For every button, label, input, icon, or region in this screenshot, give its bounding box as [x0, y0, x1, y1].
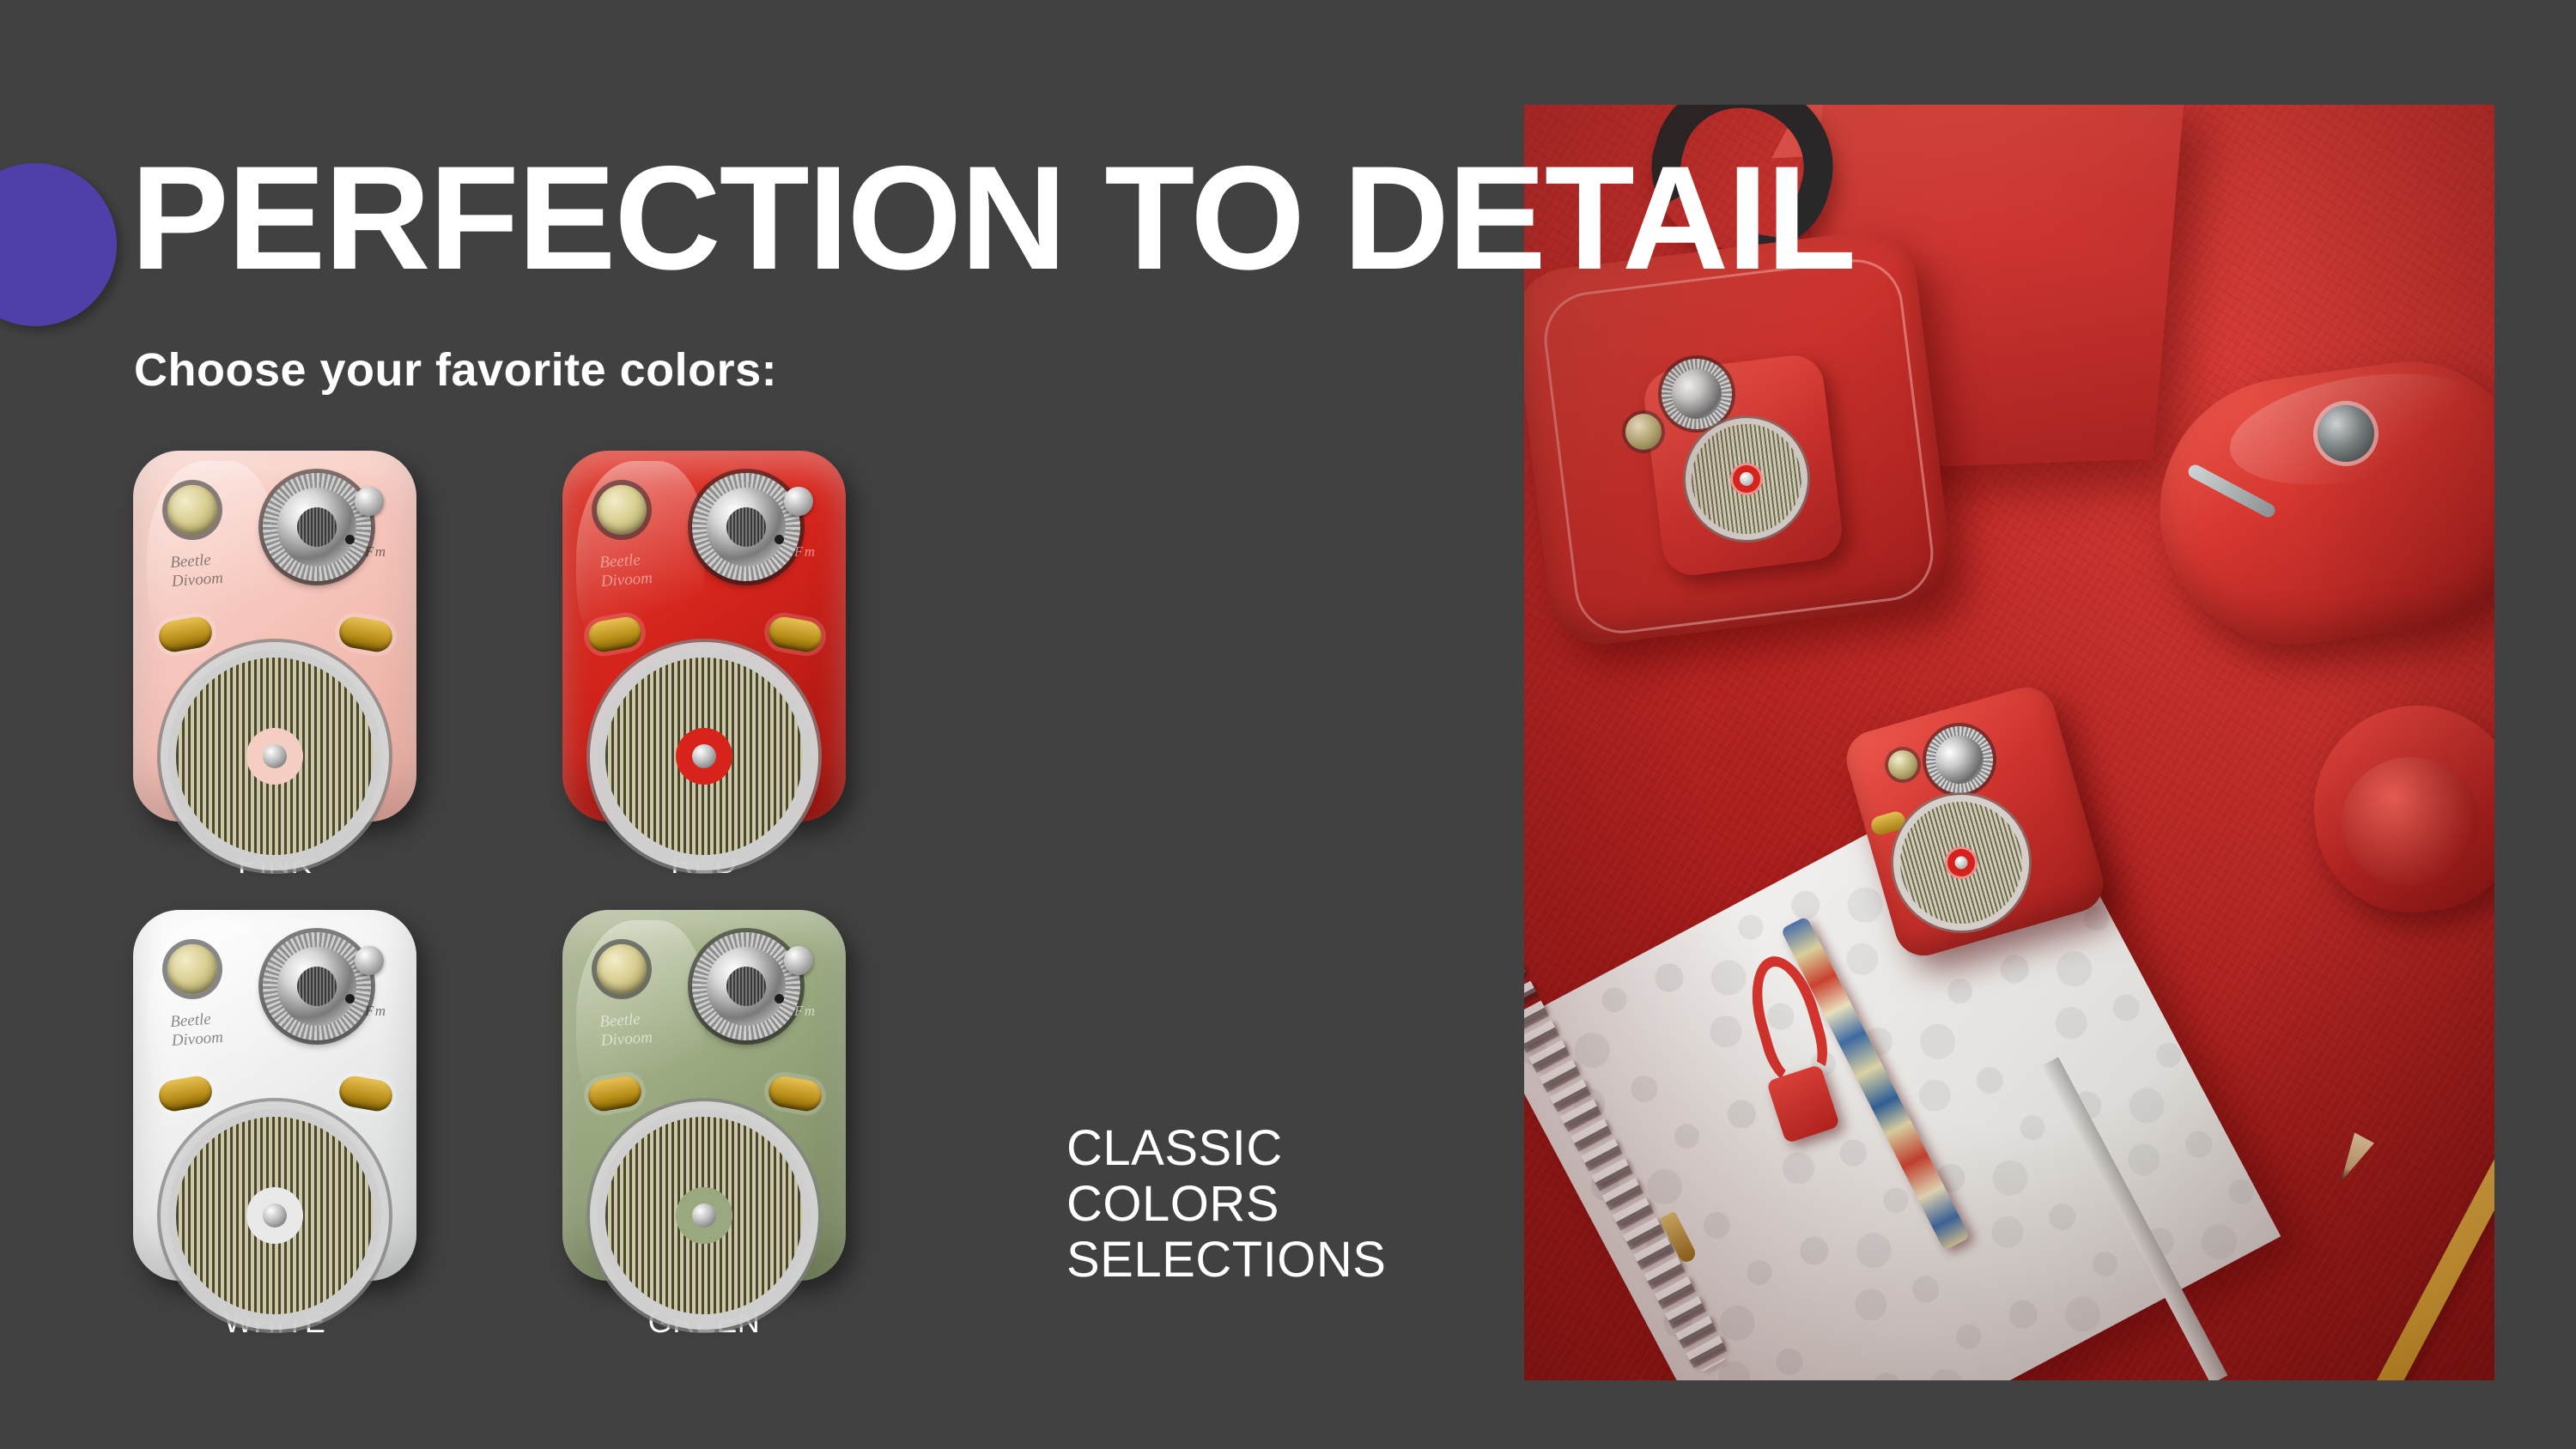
speaker-image-green: F m BeetleDivoom: [558, 910, 850, 1292]
swatch-row-bottom: F m BeetleDivoom WHITE: [129, 910, 987, 1340]
mic-pinhole-icon: [775, 994, 784, 1003]
fm-label-mark: F m: [365, 543, 386, 561]
tuning-dial-icon: [263, 473, 371, 581]
amber-button-left-icon: [156, 615, 214, 654]
swatch-green[interactable]: F m BeetleDivoom GREEN: [558, 910, 987, 1340]
speaker-grille-icon: [598, 650, 811, 863]
decorative-purple-circle: [0, 163, 117, 326]
brand-script-mark: BeetleDivoom: [170, 1009, 224, 1051]
indicator-lamp-icon: [597, 485, 647, 535]
brand-script-mark: BeetleDivoom: [599, 1009, 653, 1051]
photo-case-speaker-hub-icon: [1730, 463, 1763, 495]
fm-label-mark: F m: [365, 1003, 386, 1020]
amber-button-left-icon: [586, 615, 643, 654]
tuning-dial-icon: [692, 932, 800, 1040]
speaker-grille-icon: [168, 650, 381, 863]
fm-label-mark: F m: [794, 1003, 815, 1020]
dial-hub-icon: [297, 967, 337, 1006]
tagline-line-1: CLASSIC: [1066, 1121, 1386, 1177]
tuning-dial-icon: [263, 932, 371, 1040]
slide-canvas: PERFECTION TO DETAIL Choose your favorit…: [0, 0, 2576, 1449]
power-switch-icon: [784, 946, 813, 975]
swatch-white[interactable]: F m BeetleDivoom WHITE: [129, 910, 558, 1340]
retro-speaker-icon: F m BeetleDivoom: [133, 451, 416, 822]
tuning-dial-icon: [692, 473, 800, 581]
speaker-image-white: F m BeetleDivoom: [129, 910, 421, 1292]
photo-mini-speaker-hub-icon: [1945, 846, 1978, 879]
amber-button-right-icon: [766, 1074, 823, 1113]
tagline-line-3: SELECTIONS: [1066, 1233, 1386, 1288]
mic-pinhole-icon: [775, 535, 784, 544]
indicator-lamp-icon: [167, 485, 217, 535]
dial-hub-icon: [297, 507, 337, 547]
color-swatch-grid: F m BeetleDivoom PINK: [129, 451, 987, 1340]
amber-button-right-icon: [337, 1074, 394, 1113]
tagline-block: CLASSIC COLORS SELECTIONS: [1066, 1121, 1386, 1288]
subtitle: Choose your favorite colors:: [134, 343, 777, 397]
dial-hub-icon: [726, 507, 766, 547]
grille-hub-icon: [246, 1187, 303, 1244]
power-switch-icon: [355, 487, 384, 516]
mic-pinhole-icon: [345, 535, 355, 544]
indicator-lamp-icon: [597, 944, 647, 994]
grille-hub-icon: [246, 728, 303, 785]
brand-script-mark: BeetleDivoom: [599, 550, 653, 591]
grille-hub-icon: [676, 728, 732, 785]
page-title: PERFECTION TO DETAIL: [131, 144, 1855, 292]
speaker-image-red: F m BeetleDivoom: [558, 451, 850, 833]
retro-speaker-icon: F m BeetleDivoom: [133, 910, 416, 1281]
indicator-lamp-icon: [167, 944, 217, 994]
retro-speaker-icon: F m BeetleDivoom: [562, 910, 846, 1281]
amber-button-left-icon: [156, 1074, 214, 1113]
mic-pinhole-icon: [345, 994, 355, 1003]
photo-case-speaker-lamp-icon: [1625, 414, 1662, 450]
swatch-row-top: F m BeetleDivoom PINK: [129, 451, 987, 881]
dial-hub-icon: [726, 967, 766, 1006]
swatch-pink[interactable]: F m BeetleDivoom PINK: [129, 451, 558, 881]
brand-script-mark: BeetleDivoom: [170, 550, 224, 591]
speaker-image-pink: F m BeetleDivoom: [129, 451, 421, 833]
amber-button-right-icon: [766, 615, 823, 654]
photo-mini-speaker-lamp-icon: [1888, 750, 1917, 779]
speaker-grille-icon: [598, 1109, 811, 1322]
power-switch-icon: [355, 946, 384, 975]
amber-button-left-icon: [586, 1074, 643, 1113]
fm-label-mark: F m: [794, 543, 815, 561]
speaker-grille-icon: [168, 1109, 381, 1322]
tagline-line-2: COLORS: [1066, 1177, 1386, 1233]
swatch-red[interactable]: F m BeetleDivoom RED: [558, 451, 987, 881]
grille-hub-icon: [676, 1187, 732, 1244]
power-switch-icon: [784, 487, 813, 516]
retro-speaker-icon: F m BeetleDivoom: [562, 451, 846, 822]
amber-button-right-icon: [337, 615, 394, 654]
